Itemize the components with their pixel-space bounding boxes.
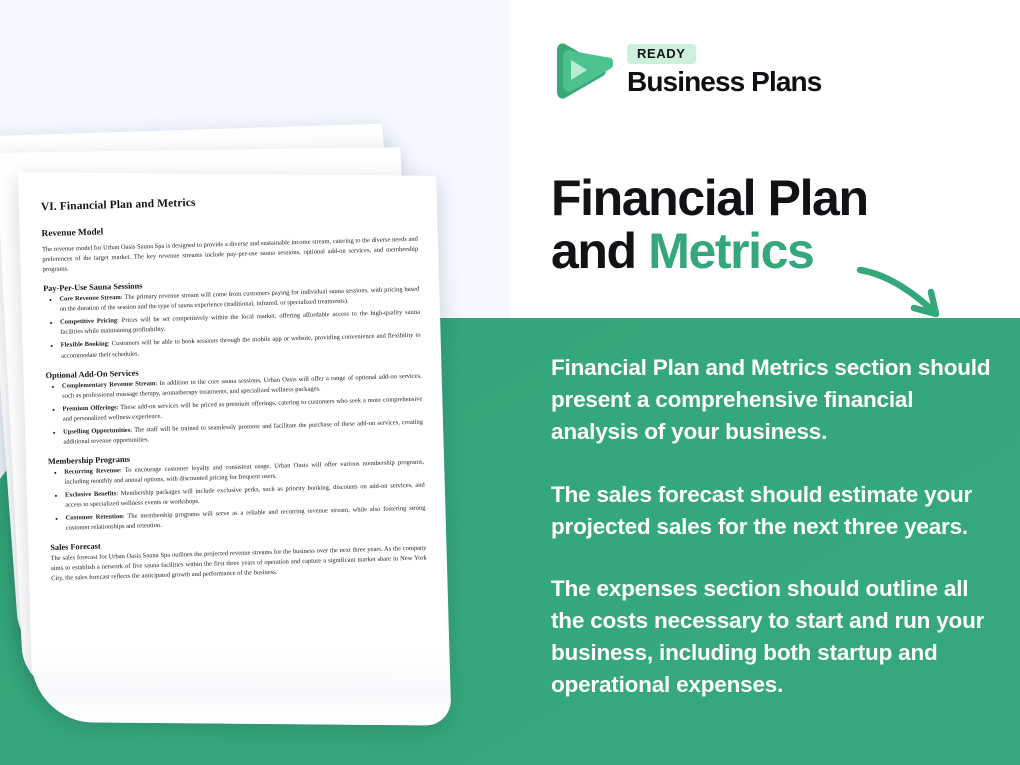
copy-paragraph-1: Financial Plan and Metrics section shoul…	[551, 352, 995, 449]
logo-name: Business Plans	[627, 66, 821, 98]
copy-paragraph-2: The sales forecast should estimate your …	[551, 479, 995, 543]
doc-paragraph-revenue-model: The revenue model for Urban Oasis Sauna …	[42, 235, 419, 276]
document-stack: VI. Financial Plan and Metrics Revenue M…	[0, 130, 470, 730]
doc-bullets-pay-per-use: Core Revenue Stream: The primary revenue…	[43, 285, 421, 362]
doc-title: VI. Financial Plan and Metrics	[41, 191, 417, 213]
play-triangle-logo-icon	[551, 36, 613, 106]
curved-arrow-icon	[856, 262, 966, 324]
copy-paragraph-3: The expenses section should outline all …	[551, 573, 995, 702]
document-page-front: VI. Financial Plan and Metrics Revenue M…	[18, 172, 452, 725]
headline-line-1: Financial Plan	[551, 172, 981, 225]
slide-canvas: VI. Financial Plan and Metrics Revenue M…	[0, 0, 1020, 765]
brand-logo[interactable]: READY Business Plans	[551, 36, 821, 106]
logo-badge-ready: READY	[627, 44, 696, 64]
doc-bullets-add-on: Complementary Revenue Stream: In additio…	[46, 371, 424, 448]
doc-bullets-membership: Recurring Revenue: To encourage customer…	[48, 458, 426, 535]
headline-accent: Metrics	[648, 223, 813, 279]
body-copy: Financial Plan and Metrics section shoul…	[551, 352, 995, 702]
headline-prefix: and	[551, 223, 648, 279]
